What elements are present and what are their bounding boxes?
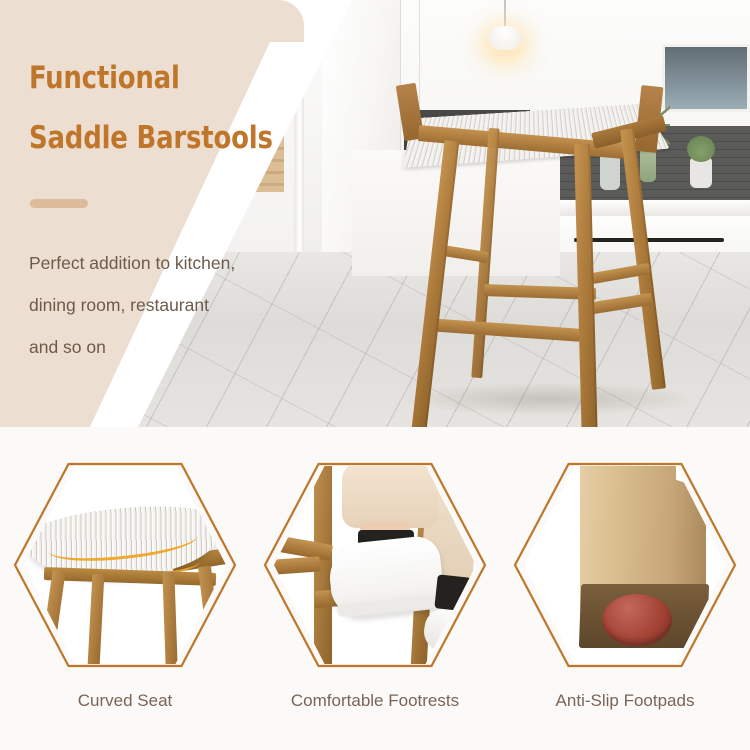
feature-item-footpads: Anti-Slip Footpads — [500, 427, 750, 750]
barstool-rung-front-lower — [432, 318, 593, 342]
page-title-line-2: Saddle Barstools — [29, 120, 273, 156]
hero-section: Functional Saddle Barstools Perfect addi… — [0, 0, 750, 427]
hero-subcopy: Perfect addition to kitchen, dining room… — [29, 242, 304, 368]
feature-hexagon-2 — [262, 460, 488, 670]
feature-strip: Curved Seat — [0, 427, 750, 750]
barstool-product — [392, 58, 722, 427]
title-underline-rule — [30, 199, 88, 208]
barstool-leg-front-right — [574, 144, 598, 427]
hero-copy-block: Functional Saddle Barstools Perfect addi… — [0, 0, 300, 427]
hero-subcopy-line-3: and so on — [29, 326, 304, 368]
feature-item-curved-seat: Curved Seat — [0, 427, 250, 750]
hero-subcopy-line-2: dining room, restaurant — [29, 284, 304, 326]
page-title-line-1: Functional — [29, 60, 180, 96]
feature-hexagon-3 — [512, 460, 738, 670]
feature-caption-curved-seat: Curved Seat — [0, 691, 250, 711]
hexagon-outline-icon — [262, 460, 488, 670]
barstool-leg-front-left — [412, 140, 460, 427]
barstool-leg-back-right — [620, 128, 666, 390]
hero-subcopy-line-1: Perfect addition to kitchen, — [29, 242, 304, 284]
feature-hexagon-1 — [12, 460, 238, 670]
kitchen-pendant-light — [487, 0, 523, 58]
feature-item-footrests: Comfortable Footrests — [250, 427, 500, 750]
hexagon-outline-icon — [512, 460, 738, 670]
product-feature-page: Functional Saddle Barstools Perfect addi… — [0, 0, 750, 750]
pendant-shade — [489, 26, 521, 50]
hexagon-outline-icon — [12, 460, 238, 670]
feature-caption-footpads: Anti-Slip Footpads — [500, 691, 750, 711]
feature-caption-footrests: Comfortable Footrests — [250, 691, 500, 711]
